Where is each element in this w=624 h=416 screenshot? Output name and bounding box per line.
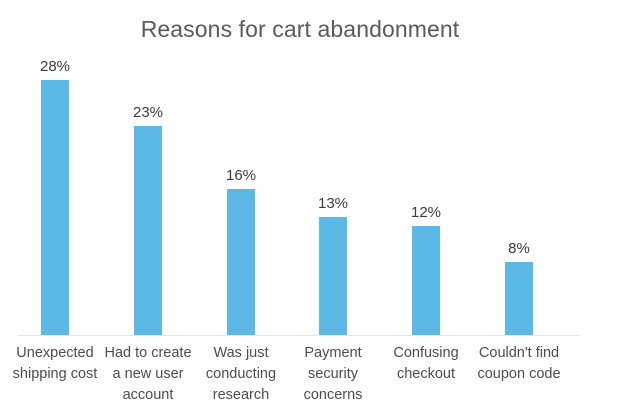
plot-area: 28% Unexpected shipping cost 23% Had to … xyxy=(0,0,624,416)
x-tick-label: Unexpected shipping cost xyxy=(8,343,102,385)
bar-rect[interactable] xyxy=(41,80,69,335)
bar-value-label: 28% xyxy=(40,59,70,74)
bar-value-label: 13% xyxy=(318,196,348,211)
bar-rect[interactable] xyxy=(134,126,162,335)
bar-group[interactable]: 12% xyxy=(379,205,473,335)
bar-rect[interactable] xyxy=(319,217,347,335)
x-tick-label: Confusing checkout xyxy=(379,343,473,385)
x-tick-label: Was just conducting research xyxy=(194,343,288,406)
bar-value-label: 16% xyxy=(226,168,256,183)
bar-group[interactable]: 28% xyxy=(8,59,102,335)
bar-group[interactable]: 16% xyxy=(194,168,288,335)
bar-rect[interactable] xyxy=(412,226,440,335)
x-tick-label: Couldn't find coupon code xyxy=(472,343,566,385)
x-tick-label: Payment security concerns xyxy=(286,343,380,406)
bar-group[interactable]: 23% xyxy=(101,105,195,335)
bar-group[interactable]: 13% xyxy=(286,196,380,335)
bar-chart: Reasons for cart abandonment 28% Unexpec… xyxy=(0,0,624,416)
x-tick-label: Had to create a new user account xyxy=(101,343,195,406)
bar-value-label: 12% xyxy=(411,205,441,220)
bar-group[interactable]: 8% xyxy=(472,241,566,335)
bar-value-label: 8% xyxy=(508,241,530,256)
bar-rect[interactable] xyxy=(227,189,255,335)
x-axis-line xyxy=(18,335,580,336)
bar-value-label: 23% xyxy=(133,105,163,120)
bar-rect[interactable] xyxy=(505,262,533,335)
